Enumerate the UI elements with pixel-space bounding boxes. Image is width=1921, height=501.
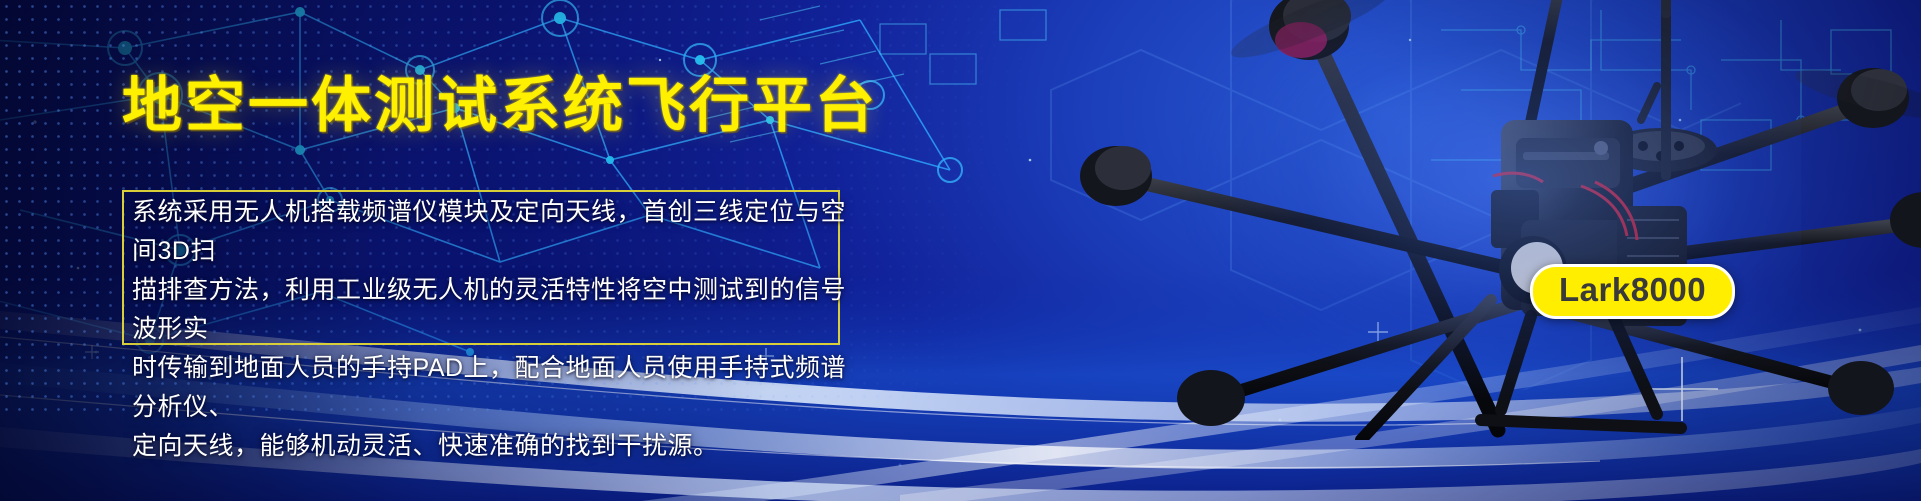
description-line: 时传输到地面人员的手持PAD上，配合地面人员使用手持式频谱分析仪、 (132, 349, 858, 427)
promo-banner: 地空一体测试系统飞行平台 系统采用无人机搭载频谱仪模块及定向天线，首创三线定位与… (0, 0, 1921, 501)
drone-photo (1061, 0, 1921, 440)
product-model-badge: Lark8000 (1530, 264, 1735, 319)
drone-glow (1181, 0, 1801, 400)
description-line: 描排查方法，利用工业级无人机的灵活特性将空中测试到的信号波形实 (132, 271, 858, 349)
description-line: 定向天线，能够机动灵活、快速准确的找到干扰源。 (132, 427, 858, 466)
description-line: 系统采用无人机搭载频谱仪模块及定向天线，首创三线定位与空间3D扫 (132, 193, 858, 271)
page-title: 地空一体测试系统飞行平台 (122, 76, 878, 136)
description-text: 系统采用无人机搭载频谱仪模块及定向天线，首创三线定位与空间3D扫 描排查方法，利… (132, 193, 858, 466)
